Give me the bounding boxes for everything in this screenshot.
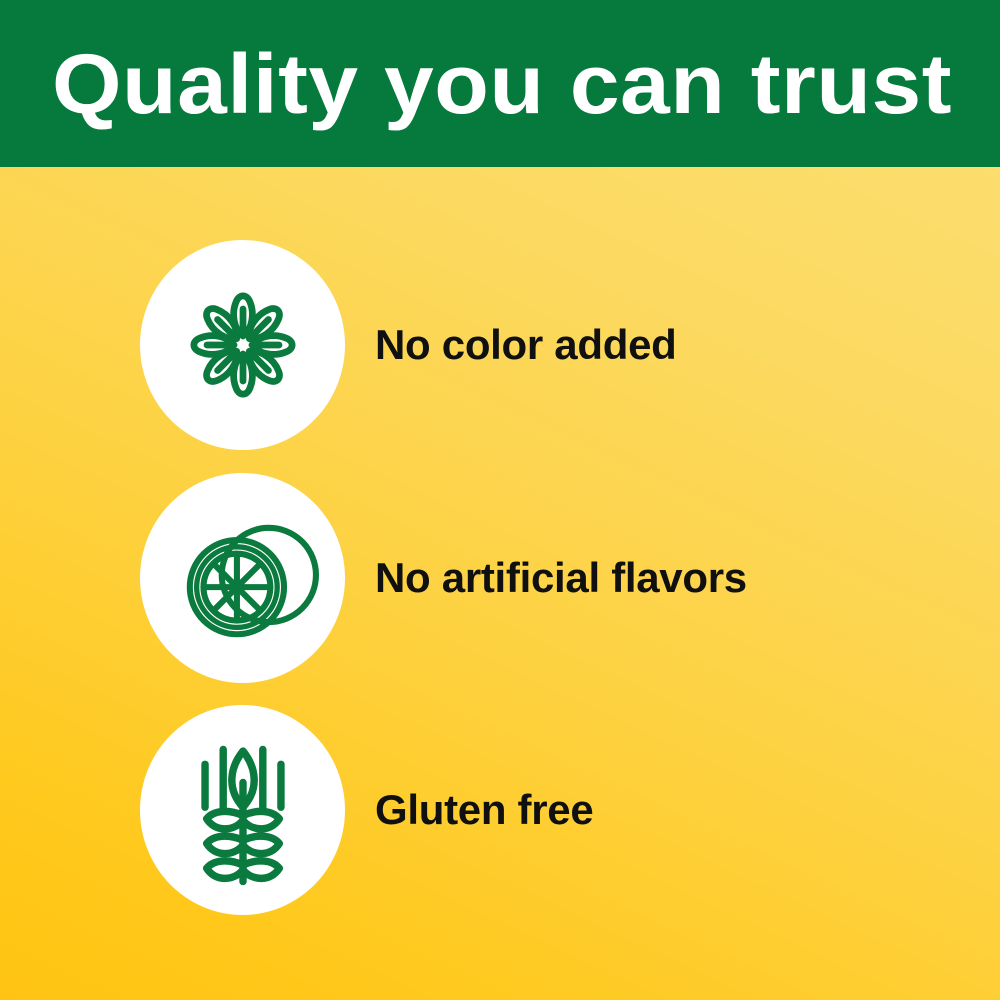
feature-row: No artificial flavors bbox=[0, 473, 1000, 683]
feature-row: No color added bbox=[0, 240, 1000, 450]
page-title: Quality you can trust bbox=[52, 39, 952, 129]
feature-label: No color added bbox=[375, 321, 677, 369]
flower-petals-icon bbox=[168, 270, 318, 420]
icon-badge bbox=[140, 705, 345, 915]
quality-claims-card: Quality you can trust bbox=[0, 0, 1000, 1000]
header-band: Quality you can trust bbox=[0, 0, 1000, 167]
icon-badge bbox=[140, 240, 345, 450]
feature-label: Gluten free bbox=[375, 786, 593, 834]
wheat-stalk-icon bbox=[173, 728, 313, 893]
citrus-slices-icon bbox=[167, 502, 319, 654]
feature-label: No artificial flavors bbox=[375, 554, 747, 602]
icon-badge bbox=[140, 473, 345, 683]
feature-row: Gluten free bbox=[0, 705, 1000, 915]
